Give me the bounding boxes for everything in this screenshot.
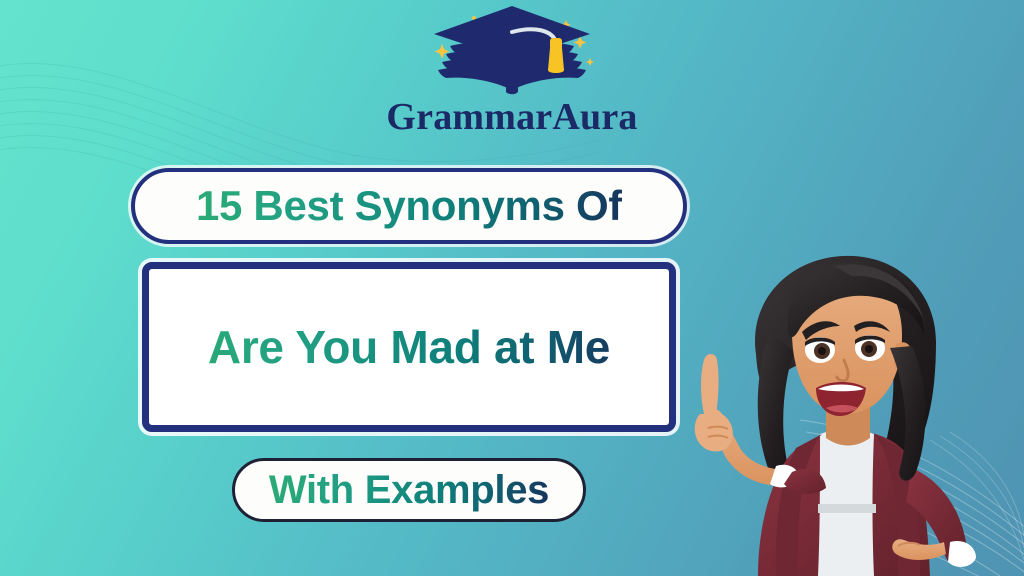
banner-canvas: GrammarAura 15 Best Synonyms Of Are You … <box>0 0 1024 576</box>
headline-main-text: Are You Mad at Me <box>192 320 626 374</box>
graduation-cap-book-icon <box>414 4 610 96</box>
eye-right <box>855 335 885 361</box>
eye-left <box>805 337 835 363</box>
inner-top <box>818 430 874 576</box>
brand-name: GrammarAura <box>386 98 637 136</box>
tassel-icon <box>548 38 564 73</box>
headline-top-text: 15 Best Synonyms Of <box>196 182 622 230</box>
angry-woman-pointing-illustration <box>684 236 1014 576</box>
headline-main-box: Are You Mad at Me <box>142 262 676 432</box>
top-shading <box>818 504 876 513</box>
brand-logo-block: GrammarAura <box>0 4 1024 136</box>
headline-top-pill: 15 Best Synonyms Of <box>131 168 687 244</box>
headline-bottom-pill: With Examples <box>232 458 586 522</box>
headline-bottom-text: With Examples <box>269 468 549 513</box>
headline-stack: 15 Best Synonyms Of Are You Mad at Me Wi… <box>131 168 687 522</box>
